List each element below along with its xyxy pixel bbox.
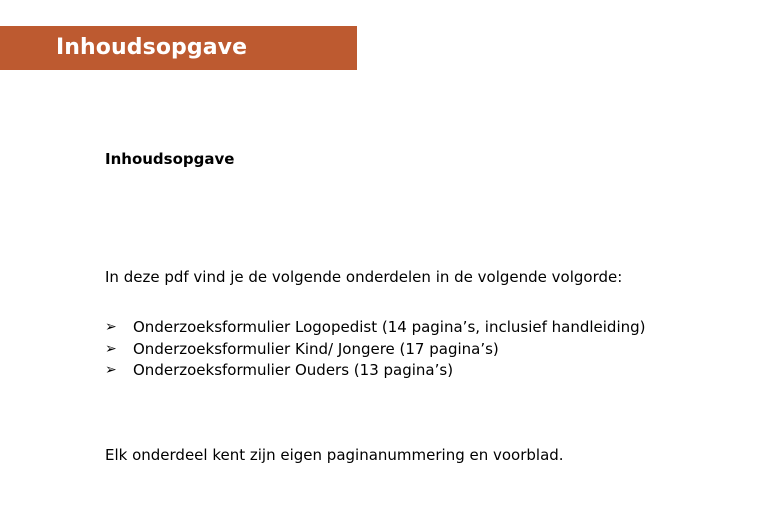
arrowhead-bullet-icon: ➢	[105, 317, 133, 339]
list-item-label: Onderzoeksformulier Kind/ Jongere (17 pa…	[133, 339, 499, 361]
closing-paragraph: Elk onderdeel kent zijn eigen paginanumm…	[105, 445, 564, 465]
slide-body: Inhoudsopgave In deze pdf vind je de vol…	[105, 149, 705, 169]
list-item-label: Onderzoeksformulier Logopedist (14 pagin…	[133, 317, 646, 339]
arrowhead-bullet-icon: ➢	[105, 360, 133, 382]
contents-list: ➢ Onderzoeksformulier Logopedist (14 pag…	[105, 317, 646, 382]
section-heading: Inhoudsopgave	[105, 149, 705, 169]
list-item: ➢ Onderzoeksformulier Ouders (13 pagina’…	[105, 360, 646, 382]
slide-title-banner: Inhoudsopgave	[0, 26, 357, 70]
arrowhead-bullet-icon: ➢	[105, 339, 133, 361]
slide-page: Inhoudsopgave Inhoudsopgave In deze pdf …	[0, 0, 764, 517]
intro-paragraph: In deze pdf vind je de volgende onderdel…	[105, 267, 622, 287]
slide-title: Inhoudsopgave	[56, 37, 247, 59]
list-item: ➢ Onderzoeksformulier Logopedist (14 pag…	[105, 317, 646, 339]
list-item-label: Onderzoeksformulier Ouders (13 pagina’s)	[133, 360, 453, 382]
list-item: ➢ Onderzoeksformulier Kind/ Jongere (17 …	[105, 339, 646, 361]
